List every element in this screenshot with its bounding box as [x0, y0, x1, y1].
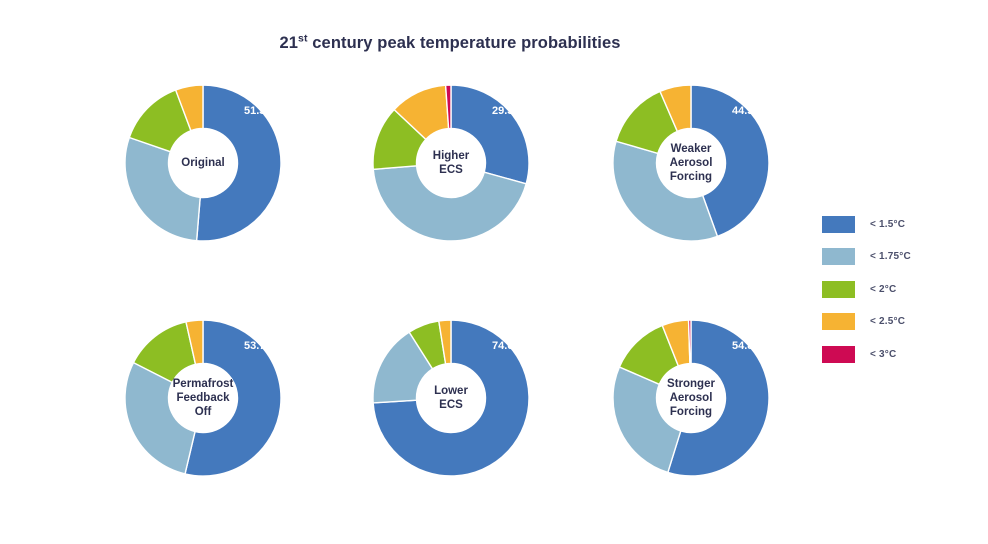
donut-slice [373, 166, 526, 241]
donut-slice [125, 363, 195, 474]
donut-slice [451, 85, 529, 184]
donut-chart-grid: 51.3%Original29.3%HigherECS44.5%WeakerAe… [110, 62, 810, 522]
legend-swatch-icon [822, 313, 855, 330]
legend-item-2[interactable]: < 2°C [822, 273, 972, 306]
donut-rings [110, 70, 296, 256]
donut-slice [613, 367, 681, 472]
title-rest: century peak temperature probabilities [308, 34, 621, 52]
title-superscript: st [298, 33, 308, 45]
donut-chart-stronger-aerosol-forcing: 54.8%StrongerAerosolForcing [598, 305, 784, 491]
page-title: 21st century peak temperature probabilit… [0, 34, 900, 53]
legend-item-0[interactable]: < 1.5°C [822, 208, 972, 241]
chart-legend: < 1.5°C< 1.75°C< 2°C< 2.5°C< 3°C [822, 208, 972, 371]
donut-chart-permafrost-feedback-off: 53.7%PermafrostFeedbackOff [110, 305, 296, 491]
title-main: 21 [279, 34, 298, 52]
legend-label: < 1.75°C [870, 251, 911, 262]
donut-rings [358, 305, 544, 491]
donut-rings [358, 70, 544, 256]
donut-rings [598, 305, 784, 491]
donut-chart-higher-ecs: 29.3%HigherECS [358, 70, 544, 256]
donut-chart-weaker-aerosol-forcing: 44.5%WeakerAerosolForcing [598, 70, 784, 256]
legend-label: < 1.5°C [870, 219, 905, 230]
legend-item-1[interactable]: < 1.75°C [822, 241, 972, 274]
donut-rings [598, 70, 784, 256]
donut-slice [197, 85, 281, 241]
chart-page: 21st century peak temperature probabilit… [0, 0, 988, 544]
legend-label: < 2°C [870, 284, 896, 295]
legend-item-3[interactable]: < 2.5°C [822, 306, 972, 339]
donut-slice [125, 138, 200, 241]
legend-swatch-icon [822, 248, 855, 265]
donut-slice [613, 141, 717, 241]
legend-swatch-icon [822, 216, 855, 233]
legend-swatch-icon [822, 281, 855, 298]
legend-label: < 3°C [870, 349, 896, 360]
legend-item-4[interactable]: < 3°C [822, 338, 972, 371]
donut-rings [110, 305, 296, 491]
legend-label: < 2.5°C [870, 316, 905, 327]
legend-swatch-icon [822, 346, 855, 363]
donut-chart-lower-ecs: 74.0%LowerECS [358, 305, 544, 491]
donut-chart-original: 51.3%Original [110, 70, 296, 256]
